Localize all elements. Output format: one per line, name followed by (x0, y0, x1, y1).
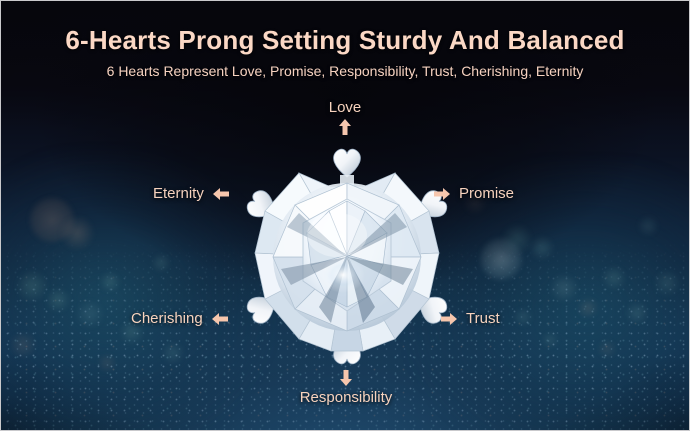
callout-eternity: Eternity (153, 185, 229, 202)
callout-trust: Trust (441, 310, 500, 327)
callout-label-responsibility: Responsibility (300, 389, 393, 406)
arrow-up-icon (338, 119, 352, 135)
callout-love: Love (287, 99, 403, 135)
diamond-table-highlight (307, 213, 367, 257)
diamond-culet-sparkle (321, 257, 365, 293)
arrow-left-icon (213, 187, 229, 201)
arrow-down-icon (339, 370, 353, 386)
callout-label-eternity: Eternity (153, 185, 204, 202)
arrow-right-icon (434, 187, 450, 201)
diamond-illustration (233, 139, 461, 374)
callout-label-promise: Promise (459, 185, 514, 202)
callout-label-trust: Trust (466, 310, 500, 327)
arrow-left-icon (212, 312, 228, 326)
product-feature-banner: 6-Hearts Prong Setting Sturdy And Balanc… (0, 0, 690, 431)
page-subtitle: 6 Hearts Represent Love, Promise, Respon… (1, 63, 689, 79)
callout-promise: Promise (434, 185, 514, 202)
callout-responsibility: Responsibility (281, 370, 411, 406)
callout-label-cherishing: Cherishing (131, 310, 203, 327)
page-title: 6-Hearts Prong Setting Sturdy And Balanc… (1, 25, 689, 56)
callout-label-love: Love (329, 99, 362, 116)
callout-cherishing: Cherishing (131, 310, 228, 327)
arrow-right-icon (441, 312, 457, 326)
